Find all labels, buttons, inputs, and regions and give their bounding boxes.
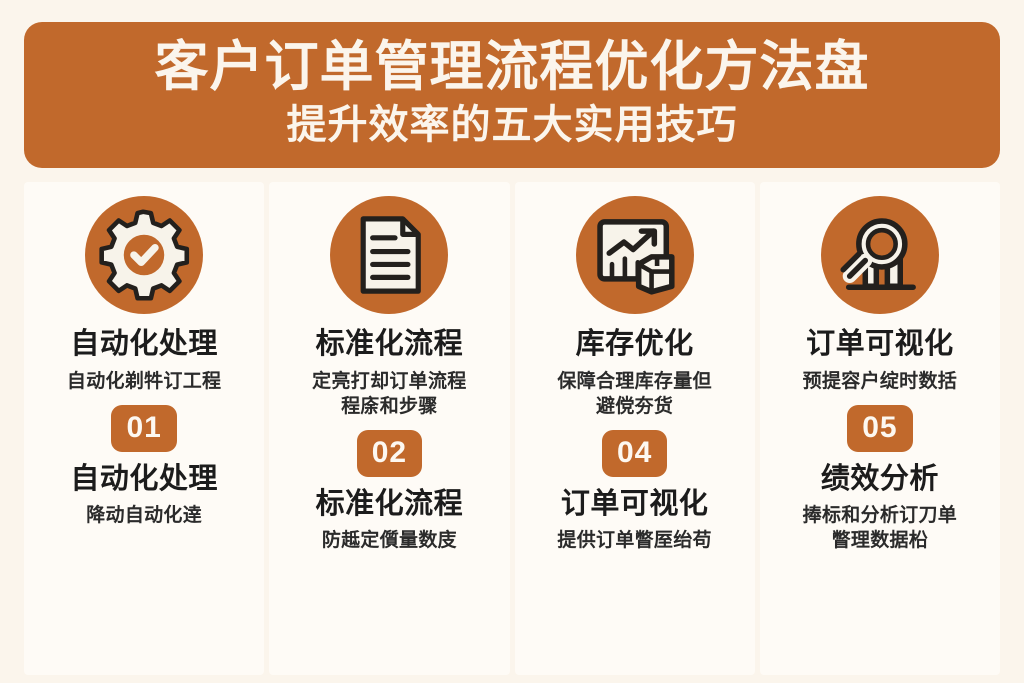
header-banner: 客户订单管理流程优化方法盘 提升效率的五大实用技巧 [24, 22, 1000, 168]
card-2[interactable]: 标准化流程 定亮打却订单流程 程庩和步骤 02 标准化流程 防趆定儨量数庋 [269, 182, 509, 675]
page-title: 客户订单管理流程优化方法盘 [44, 38, 980, 96]
page-subtitle: 提升效率的五大实用技巧 [44, 102, 980, 148]
card-1-heading-bottom: 自动化处理 [70, 463, 218, 496]
card-3[interactable]: 库存优化 保障合理库存量但 避傥夯货 04 订单可视化 提供订单瞥厔绐苟 [515, 182, 755, 675]
card-2-desc-bottom: 防趆定儨量数庋 [322, 528, 457, 553]
card-2-desc-top-line2: 程庩和步骤 [312, 394, 466, 419]
card-1[interactable]: 自动化处理 自动化剃牪订工程 01 自动化处理 降动自动化逹 [24, 182, 264, 675]
card-1-desc-top: 自动化剃牪订工程 [67, 369, 221, 394]
magnifier-bar-chart-icon [821, 196, 939, 314]
card-4-desc-top: 预提容户绽时数括 [803, 369, 957, 394]
card-2-heading-bottom: 标准化流程 [316, 488, 464, 521]
card-1-desc-bottom-line1: 降动自动化逹 [86, 505, 202, 526]
card-2-desc-bottom-line1: 防趆定儨量数庋 [322, 530, 457, 551]
gear-check-icon [85, 196, 203, 314]
card-4[interactable]: 订单可视化 预提容户绽时数括 05 绩效分析 捧标和分析订刀单 瞥理数据柗 [760, 182, 1000, 675]
card-3-number-badge: 04 [602, 430, 667, 477]
card-2-desc-top: 定亮打却订单流程 程庩和步骤 [312, 369, 466, 419]
card-3-heading-top: 库存优化 [576, 328, 694, 361]
card-3-desc-top-line2: 避傥夯货 [557, 394, 711, 419]
card-1-desc-bottom: 降动自动化逹 [86, 503, 202, 528]
card-4-heading-top: 订单可视化 [806, 328, 954, 361]
cards-row: 自动化处理 自动化剃牪订工程 01 自动化处理 降动自动化逹 [24, 182, 1000, 675]
card-4-heading-bottom: 绩效分析 [821, 463, 939, 496]
card-3-desc-bottom: 提供订单瞥厔绐苟 [557, 528, 711, 553]
growth-chart-box-icon [576, 196, 694, 314]
document-icon [330, 196, 448, 314]
card-4-desc-top-line1: 预提容户绽时数括 [803, 371, 957, 392]
card-3-heading-bottom: 订单可视化 [561, 488, 709, 521]
card-4-number-badge: 05 [847, 405, 912, 452]
card-1-heading-top: 自动化处理 [70, 328, 218, 361]
card-1-desc-top-line1: 自动化剃牪订工程 [67, 371, 221, 392]
card-2-number-badge: 02 [357, 430, 422, 477]
card-2-heading-top: 标准化流程 [316, 328, 464, 361]
infographic-poster: 客户订单管理流程优化方法盘 提升效率的五大实用技巧 自动化处理 自动化剃牪订工程… [0, 0, 1024, 683]
card-3-desc-top-line1: 保障合理库存量但 [557, 371, 711, 392]
card-2-desc-top-line1: 定亮打却订单流程 [312, 371, 466, 392]
card-3-desc-top: 保障合理库存量但 避傥夯货 [557, 369, 711, 419]
card-4-desc-bottom: 捧标和分析订刀单 瞥理数据柗 [803, 503, 957, 553]
card-4-desc-bottom-line2: 瞥理数据柗 [803, 528, 957, 553]
card-4-desc-bottom-line1: 捧标和分析订刀单 [803, 505, 957, 526]
card-3-desc-bottom-line1: 提供订单瞥厔绐苟 [557, 530, 711, 551]
card-1-number-badge: 01 [111, 405, 176, 452]
